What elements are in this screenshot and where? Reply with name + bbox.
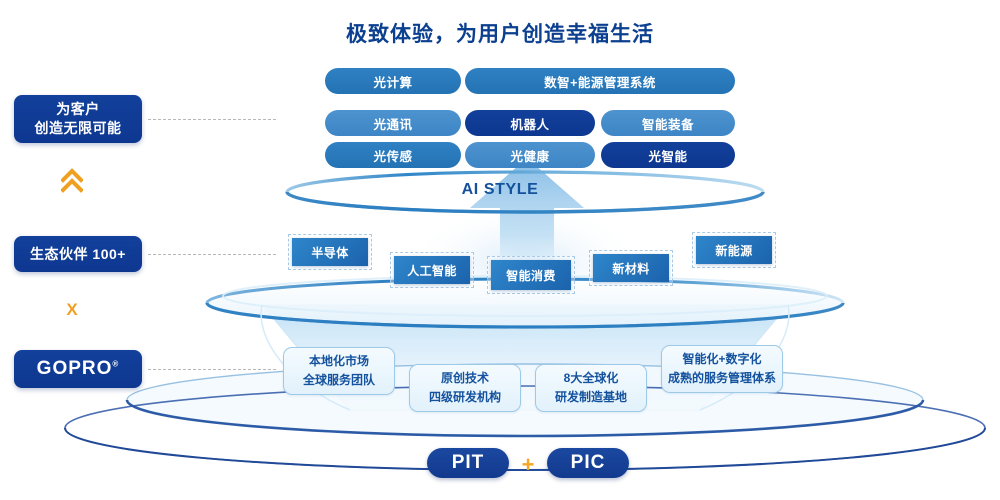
gopro-logo: GOPRO® — [37, 356, 120, 382]
mid-tier-chip-new-materials[interactable]: 新材料 — [589, 250, 673, 286]
footer-badge-pit[interactable]: PIT — [427, 448, 509, 478]
footer-badge-pic[interactable]: PIC — [547, 448, 629, 478]
connector-dash-middle — [148, 254, 276, 255]
mid-tier-chip-new-materials-label: 新材料 — [593, 254, 669, 282]
multiply-icon: X — [52, 300, 92, 320]
connector-dash-top — [148, 119, 276, 120]
bottom-box-1-line-2: 全球服务团队 — [303, 371, 375, 390]
top-tier-pill-optical-intelligence[interactable]: 光智能 — [601, 142, 735, 168]
sidebar-item-eco-partners[interactable]: 生态伙伴 100+ — [14, 236, 142, 272]
top-tier-pill-optical-sensing[interactable]: 光传感 — [325, 142, 461, 168]
mid-tier-chip-smart-consumption-label: 智能消费 — [491, 260, 571, 290]
bottom-box-4-line-2: 成熟的服务管理体系 — [668, 369, 776, 388]
diagram-canvas: 极致体验，为用户创造幸福生活 为客户 创造无限可能 生态伙伴 100+ X GO… — [0, 0, 1000, 500]
sidebar-item-value-proposition[interactable]: 为客户 创造无限可能 — [14, 95, 142, 143]
top-tier-pill-energy-management[interactable]: 数智+能源管理系统 — [465, 68, 735, 94]
mid-tier-chip-smart-consumption[interactable]: 智能消费 — [487, 256, 575, 294]
top-tier-pill-optical-computing[interactable]: 光计算 — [325, 68, 461, 94]
top-tier-pill-robotics[interactable]: 机器人 — [465, 110, 595, 136]
value-label-line-2: 创造无限可能 — [35, 119, 122, 138]
top-tier-pill-optical-health[interactable]: 光健康 — [465, 142, 595, 168]
ai-style-label: AI STYLE — [0, 181, 1000, 199]
bottom-box-3-line-2: 研发制造基地 — [555, 388, 627, 407]
bottom-box-2-line-2: 四级研发机构 — [429, 388, 501, 407]
bottom-box-4-line-1: 智能化+数字化 — [682, 350, 761, 369]
top-tier-pill-optical-comms[interactable]: 光通讯 — [325, 110, 461, 136]
connector-dash-bottom — [148, 369, 276, 370]
mid-tier-chip-semiconductor[interactable]: 半导体 — [288, 234, 372, 270]
lower-platform-disc — [127, 364, 923, 436]
bottom-box-1-line-1: 本地化市场 — [309, 352, 369, 371]
mid-tier-chip-ai-label: 人工智能 — [394, 256, 470, 284]
bottom-tier-box-local-market[interactable]: 本地化市场 全球服务团队 — [283, 347, 395, 395]
mid-tier-chip-new-energy[interactable]: 新能源 — [692, 232, 776, 268]
page-title: 极致体验，为用户创造幸福生活 — [0, 18, 1000, 48]
bottom-box-3-line-1: 8大全球化 — [564, 369, 619, 388]
bottom-tier-box-service-system[interactable]: 智能化+数字化 成熟的服务管理体系 — [661, 345, 783, 393]
mid-tier-chip-ai[interactable]: 人工智能 — [390, 252, 474, 288]
bottom-box-2-line-1: 原创技术 — [441, 369, 489, 388]
sidebar-item-gopro-brand[interactable]: GOPRO® — [14, 350, 142, 388]
bottom-tier-box-global-bases[interactable]: 8大全球化 研发制造基地 — [535, 364, 647, 412]
bottom-tier-box-original-tech[interactable]: 原创技术 四级研发机构 — [409, 364, 521, 412]
plus-icon: + — [519, 454, 537, 476]
value-label-line-1: 为客户 — [56, 100, 100, 119]
top-tier-pill-smart-equipment[interactable]: 智能装备 — [601, 110, 735, 136]
mid-tier-chip-semiconductor-label: 半导体 — [292, 238, 368, 266]
eco-label-text: 生态伙伴 100+ — [30, 245, 126, 264]
mid-tier-chip-new-energy-label: 新能源 — [696, 236, 772, 264]
